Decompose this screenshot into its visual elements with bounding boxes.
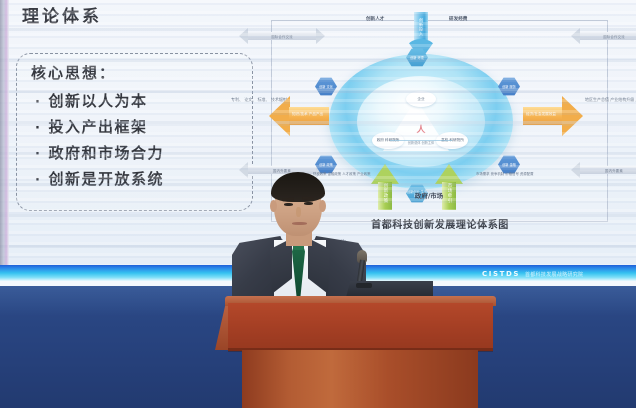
corner-arrow-label: 国内外要素 <box>571 168 636 173</box>
corner-arrow-label: 国际合作交流 <box>239 34 325 39</box>
baseline-label: 创新载体 创新主体 <box>408 141 435 145</box>
corner-arrow-bottom-right: 国内外要素 <box>571 162 636 178</box>
ear-left <box>270 200 277 212</box>
list-item: · 创新以人为本 <box>35 90 245 111</box>
policy-arrow-icon: 创新政策 <box>371 164 399 210</box>
bullet-text: 创新以人为本 <box>48 90 147 111</box>
bullet-marker-icon: · <box>35 96 41 109</box>
corner-arrow-label: 国际合作交流 <box>571 34 636 39</box>
nose <box>296 207 301 217</box>
screen-left-edge <box>0 0 9 272</box>
market-arrow-icon: 市场牵引 <box>435 164 463 210</box>
podium-lower-body <box>242 350 478 408</box>
bullet-text: 政府和市场合力 <box>48 142 164 163</box>
core-idea-heading: 核心思想： <box>31 62 116 83</box>
top-label-right: 研发经费 <box>449 16 467 22</box>
mouth <box>292 222 307 225</box>
top-label-left: 创新人才 <box>366 16 384 22</box>
bullet-marker-icon: · <box>35 148 41 161</box>
right-arrow-label: 经济/社会发展效益 <box>526 112 556 117</box>
eye-right <box>304 202 313 205</box>
list-item: · 投入产出框架 <box>35 116 245 137</box>
hair <box>271 172 325 202</box>
core-idea-box: 核心思想： · 创新以人为本 · 投入产出框架 · 政府和市场合力 · 创新是开… <box>16 53 253 211</box>
core-idea-bullet-list: · 创新以人为本 · 投入产出框架 · 政府和市场合力 · 创新是开放系统 <box>35 90 245 194</box>
arrow-head-icon <box>562 96 583 136</box>
sponsor-logo: CISTDS 首都科技发展战略研究院 <box>482 268 632 280</box>
list-item: · 创新是开放系统 <box>35 168 245 189</box>
knowledge-output-arrow-icon: 知识/技术 产品产出 <box>269 96 329 136</box>
corner-arrow-top-left: 国际合作交流 <box>239 28 325 44</box>
arrow-head-icon <box>269 96 290 136</box>
bullet-marker-icon: · <box>35 174 41 187</box>
left-side-label: 专利、 论文、 标准、 技术辐射 <box>231 97 267 103</box>
bottom-right-label: 市场需求 竞争机制 价格信号 资源配置 <box>476 172 533 178</box>
node-enterprise: 企业 <box>406 91 436 107</box>
left-arrow-label: 知识/技术 产品产出 <box>292 112 323 117</box>
person-glyph: 人 <box>416 122 425 135</box>
microphone-base <box>356 283 372 288</box>
bullet-text: 投入产出框架 <box>48 116 147 137</box>
screenshot-root: 理论体系 核心思想： · 创新以人为本 · 投入产出框架 · 政府和市场合力 · <box>0 0 636 408</box>
innovation-ring: 人 企业 政府 科研院所 高校 科研院所 创新载体 创新主体 <box>329 54 513 189</box>
right-side-label: 地区生产总值 产业结构升级 居民生活水平提升 <box>585 97 633 103</box>
eyebrow-right <box>302 197 314 200</box>
bullet-marker-icon: · <box>35 122 41 135</box>
ring-inner-area: 人 企业 政府 科研院所 高校 科研院所 创新载体 创新主体 <box>357 76 486 168</box>
economic-benefit-arrow-icon: 经济/社会发展效益 <box>523 96 583 136</box>
corner-arrow-top-right: 国际合作交流 <box>571 28 636 44</box>
logo-chinese-name: 首都科技发展战略研究院 <box>525 271 583 278</box>
list-item: · 政府和市场合力 <box>35 142 245 163</box>
logo-wordmark: CISTDS <box>482 270 520 278</box>
podium-front-panel <box>228 303 493 351</box>
slide-title: 理论体系 <box>22 2 102 27</box>
ear-right <box>319 200 326 212</box>
bullet-text: 创新是开放系统 <box>48 168 164 189</box>
government-market-label: 政府/市场 <box>394 190 464 200</box>
down-arrow-label: 创新投入 <box>406 14 436 40</box>
eye-left <box>284 203 293 206</box>
